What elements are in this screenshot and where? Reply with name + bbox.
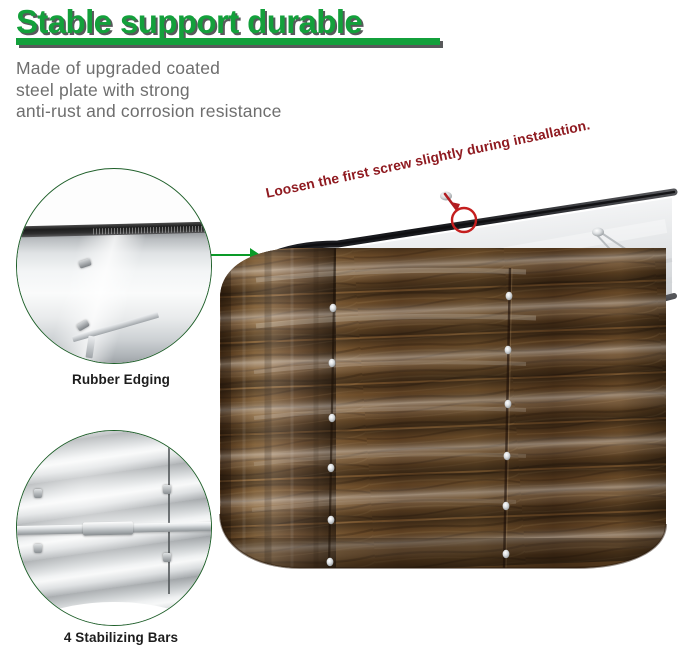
callout-rubber-edging: Rubber Edging bbox=[16, 168, 226, 406]
subtitle-text: Made of upgraded coated steel plate with… bbox=[16, 58, 436, 123]
screw-icon bbox=[163, 485, 171, 494]
callout-label: Rubber Edging bbox=[16, 372, 226, 387]
callout-circle-frame bbox=[16, 168, 212, 364]
callout-stabilizing-bars: 4 Stabilizing Bars bbox=[16, 430, 226, 656]
headline-underline-bar bbox=[16, 38, 440, 45]
annotation-marker bbox=[441, 192, 485, 238]
callout-circle-frame bbox=[16, 430, 212, 626]
headline-block: Stable support durable bbox=[16, 2, 476, 54]
stabilizing-bar-coupler bbox=[83, 521, 134, 535]
metal-panel-surface bbox=[16, 231, 212, 364]
screw-icon bbox=[34, 544, 42, 553]
product-image-raised-garden-bed bbox=[196, 148, 679, 648]
screw-icon bbox=[163, 553, 171, 562]
page-title: Stable support durable bbox=[16, 2, 362, 42]
product-body-walls bbox=[196, 235, 679, 578]
screw-icon bbox=[34, 489, 42, 498]
panel-seam bbox=[168, 443, 170, 594]
callout-label: 4 Stabilizing Bars bbox=[16, 630, 226, 645]
annotation-circle-icon bbox=[452, 208, 476, 232]
